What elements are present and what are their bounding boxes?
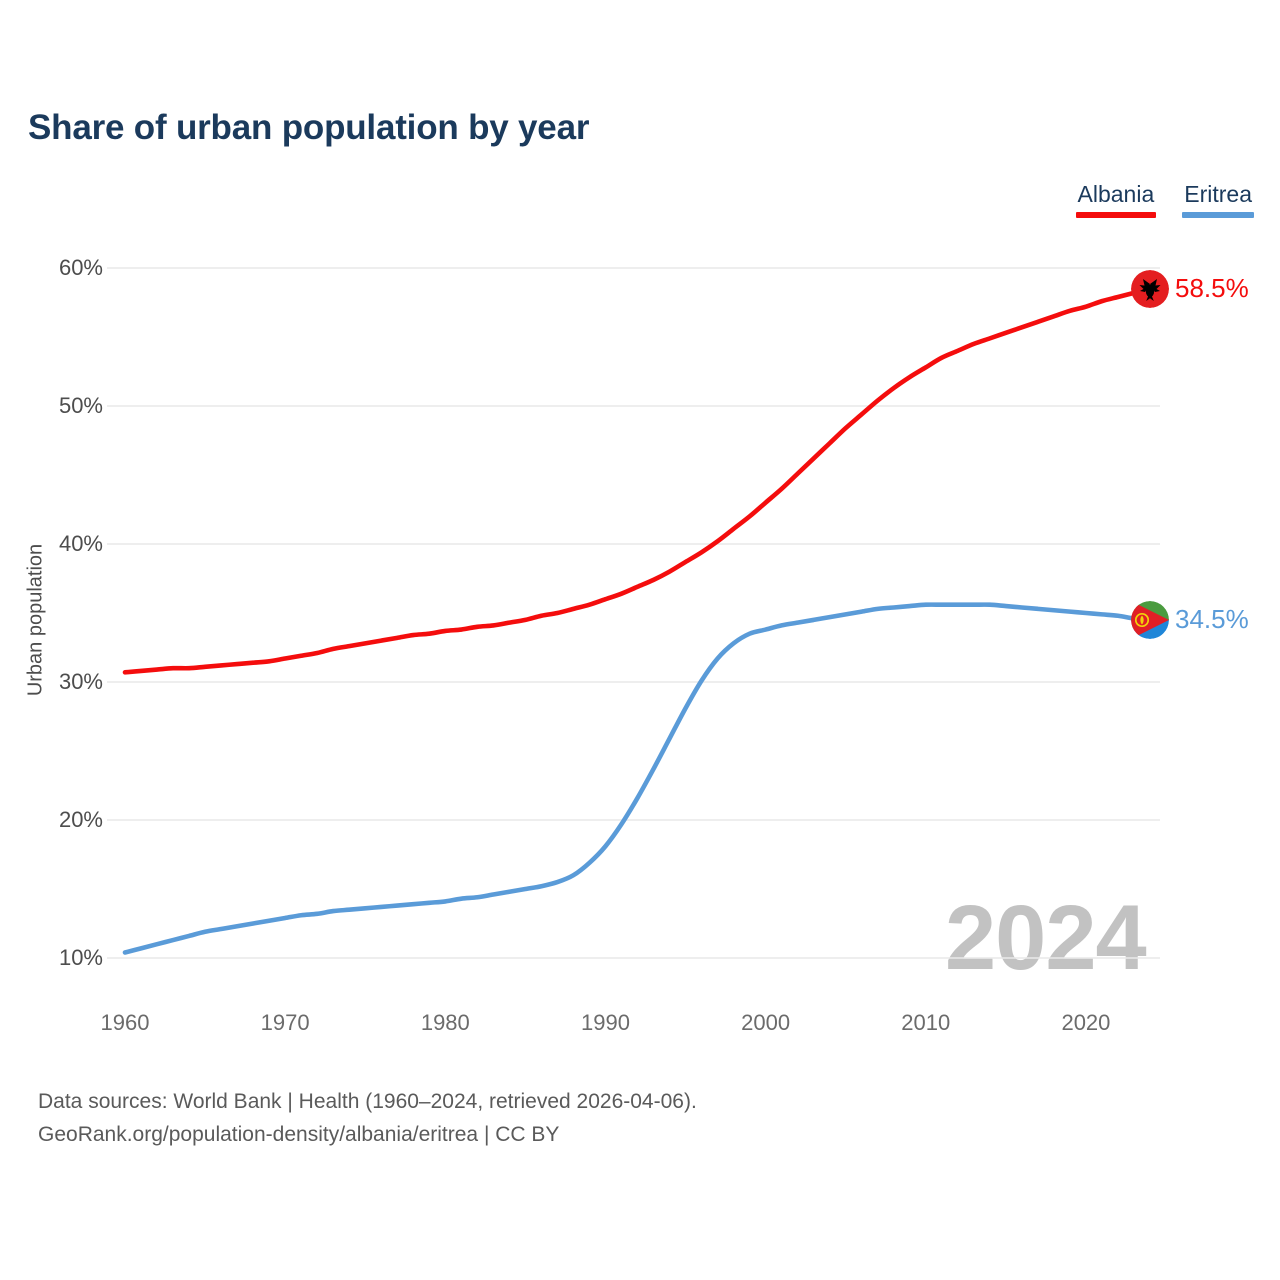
eritrea-flag-icon: [1131, 601, 1169, 639]
footer-line-2: GeoRank.org/population-density/albania/e…: [38, 1119, 697, 1152]
albania-endpoint: 58.5%: [1131, 270, 1249, 308]
eritrea-endpoint: 34.5%: [1131, 601, 1249, 639]
x-tick-label-1990: 1990: [555, 1010, 655, 1036]
legend-label-eritrea: Eritrea: [1182, 182, 1254, 207]
footer-line-1: Data sources: World Bank | Health (1960–…: [38, 1086, 697, 1119]
chart-title: Share of urban population by year: [28, 108, 589, 148]
footer-credits: Data sources: World Bank | Health (1960–…: [38, 1086, 697, 1151]
y-tick-label-50%: 50%: [23, 393, 103, 419]
legend-item-albania[interactable]: Albania: [1076, 182, 1157, 218]
x-tick-label-2020: 2020: [1036, 1010, 1136, 1036]
x-tick-label-1970: 1970: [235, 1010, 335, 1036]
legend-item-eritrea[interactable]: Eritrea: [1182, 182, 1254, 218]
x-tick-label-2010: 2010: [876, 1010, 976, 1036]
y-tick-label-20%: 20%: [23, 807, 103, 833]
y-tick-label-30%: 30%: [23, 669, 103, 695]
chart-container: Share of urban population by year Albani…: [0, 0, 1280, 1280]
y-tick-label-10%: 10%: [23, 945, 103, 971]
legend-label-albania: Albania: [1076, 182, 1157, 207]
x-tick-label-1960: 1960: [75, 1010, 175, 1036]
y-tick-label-60%: 60%: [23, 255, 103, 281]
albania-endpoint-value: 58.5%: [1175, 273, 1249, 304]
x-tick-label-1980: 1980: [395, 1010, 495, 1036]
chart-legend: Albania Eritrea: [1076, 182, 1254, 218]
albania-flag-icon: [1131, 270, 1169, 308]
x-tick-label-2000: 2000: [716, 1010, 816, 1036]
year-watermark: 2024: [945, 892, 1146, 984]
legend-color-swatch-eritrea: [1182, 212, 1254, 218]
legend-color-swatch-albania: [1076, 212, 1157, 218]
eritrea-endpoint-value: 34.5%: [1175, 604, 1249, 635]
y-tick-label-40%: 40%: [23, 531, 103, 557]
series-line-albania: [125, 289, 1150, 673]
